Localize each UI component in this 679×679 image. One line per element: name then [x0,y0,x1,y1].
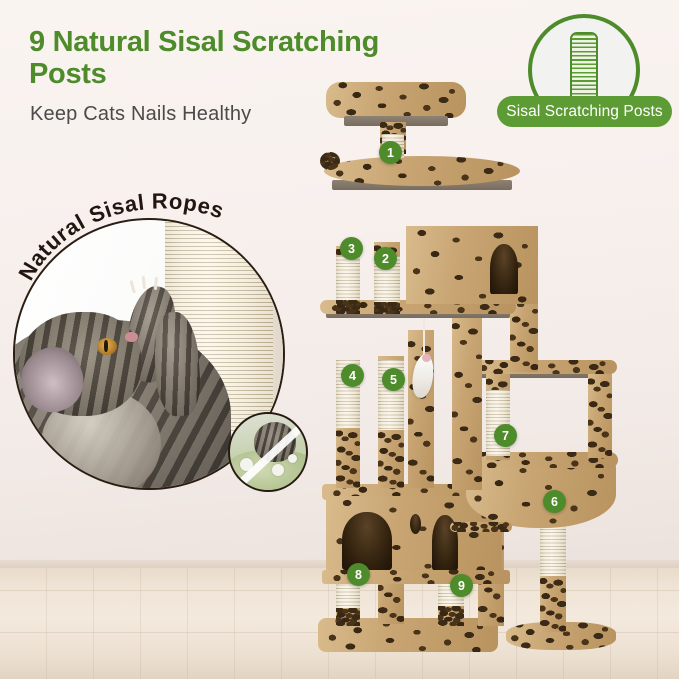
post-marker-6: 6 [543,490,566,513]
post-marker-1: 1 [379,141,402,164]
sisal-post-3 [336,256,360,306]
cat-eye [97,338,117,355]
photo-caption: Natural Sisal Ropes [10,182,300,302]
upper-condo-house [406,226,538,304]
post-marker-2: 2 [374,247,397,270]
post-marker-7: 7 [494,424,517,447]
upper-right-shelf-edge [472,360,617,374]
hammock-cradle [466,458,616,528]
top-perch [326,82,466,118]
cat-nose [125,332,138,342]
post-marker-5: 5 [382,368,405,391]
svg-text:Natural Sisal Ropes: Natural Sisal Ropes [13,188,227,284]
top-bowl-rim [324,156,520,186]
condo-entrance-large [342,512,392,570]
no-loose-fibers-icon [228,412,308,492]
top-bowl-knob [320,152,340,170]
upper-condo-entrance [490,244,518,294]
post-marker-8: 8 [347,563,370,586]
caption-text: Natural Sisal Ropes [13,188,227,284]
infographic-canvas: 9 Natural Sisal Scratching Posts Keep Ca… [0,0,679,679]
post-marker-9: 9 [450,574,473,597]
perch-arm [450,522,512,532]
post-marker-4: 4 [341,364,364,387]
toy-string [423,314,425,356]
mouse-toy-ear [422,354,431,362]
post-marker-3: 3 [340,237,363,260]
condo-peephole [410,514,421,534]
